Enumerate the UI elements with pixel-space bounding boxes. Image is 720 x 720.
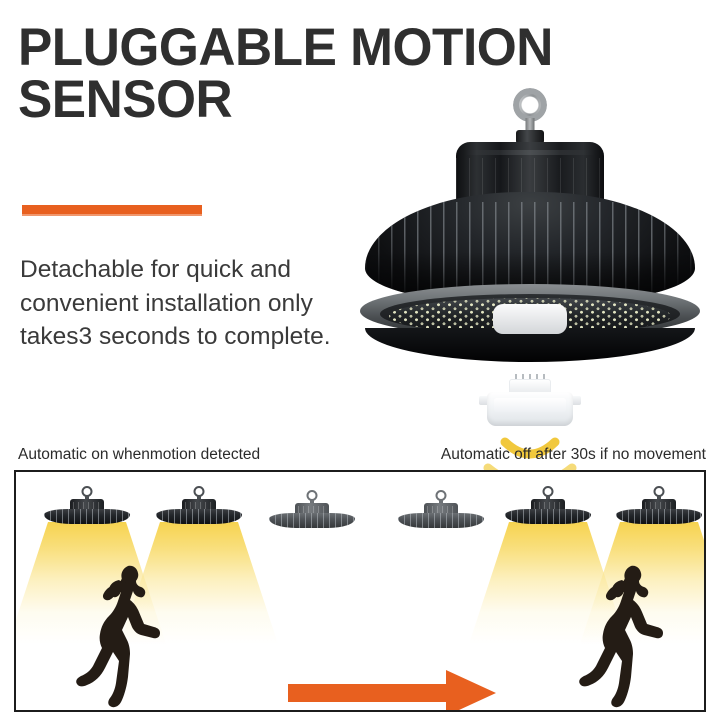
- hook-ring: [513, 88, 547, 122]
- caption-motion-off: Automatic off after 30s if no movement: [441, 446, 706, 464]
- motion-scene-panel: [14, 470, 706, 712]
- high-bay-lamp-5-on: [505, 486, 591, 526]
- pluggable-sensor-module: [487, 374, 573, 430]
- high-bay-lamp-1-on: [44, 486, 130, 526]
- lamp-heatsink: [398, 513, 484, 528]
- runner-right: [574, 560, 670, 710]
- product-infographic: PLUGGABLE MOTION SENSOR Detachable for q…: [0, 0, 720, 720]
- hero-product-image: [352, 88, 708, 448]
- lamp-heatsink: [269, 513, 355, 528]
- lamp-heatsink: [156, 509, 242, 524]
- accent-divider: [22, 205, 202, 216]
- high-bay-lamp-4-off: [398, 490, 484, 530]
- high-bay-lamp-3-off: [269, 490, 355, 530]
- accent-divider-sheen: [22, 214, 202, 216]
- sensor-body: [487, 392, 573, 426]
- lamp-heatsink: [616, 509, 702, 524]
- high-bay-lamp-2-on: [156, 486, 242, 526]
- motion-direction-arrow: [288, 670, 496, 712]
- lamp-heatsink: [44, 509, 130, 524]
- runner-left: [71, 560, 167, 710]
- hanging-hook-icon: [513, 88, 547, 122]
- caption-motion-on: Automatic on whenmotion detected: [18, 446, 260, 464]
- lamp-heatsink: [505, 509, 591, 524]
- sensor-socket: [493, 304, 567, 334]
- high-bay-lamp-6-on: [616, 486, 702, 526]
- feature-description: Detachable for quick and convenient inst…: [20, 253, 370, 354]
